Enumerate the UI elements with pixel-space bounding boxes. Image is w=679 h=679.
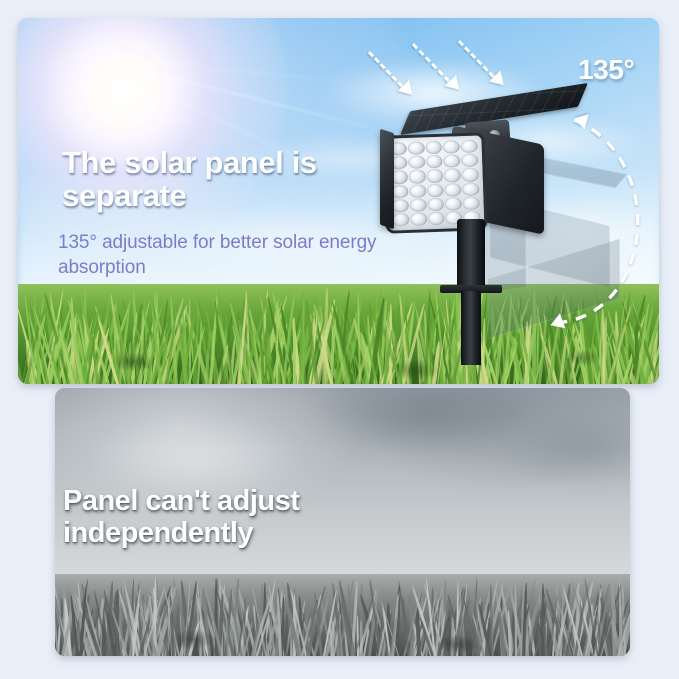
- grass-blade: [480, 609, 491, 656]
- grass-blade: [435, 598, 439, 656]
- grass-blade: [299, 318, 320, 384]
- product-adjustable-solar-light: [378, 73, 659, 373]
- grass-blade: [229, 339, 236, 384]
- grass-blade: [36, 319, 57, 384]
- grass-blade: [122, 620, 131, 656]
- grass-blade: [33, 331, 37, 384]
- grass-blade: [552, 591, 559, 656]
- grass-blade: [491, 603, 494, 656]
- grass-blade: [265, 314, 268, 384]
- grass-blade: [92, 339, 99, 384]
- grass-gray: [55, 574, 630, 656]
- grass-blade: [408, 601, 424, 656]
- grass-blade: [378, 588, 402, 656]
- grass-blade: [328, 621, 332, 656]
- grass-blade: [462, 596, 478, 656]
- grass-blade: [99, 340, 108, 384]
- grass-blade: [367, 343, 378, 384]
- grass-blade: [132, 603, 140, 656]
- grass-blade: [597, 609, 601, 656]
- grass-blade: [259, 335, 276, 384]
- grass-blade: [582, 587, 599, 656]
- grass-blade: [244, 292, 260, 384]
- grass-blade: [143, 588, 166, 656]
- grass-blade: [87, 619, 101, 656]
- grass-blade: [101, 597, 107, 656]
- grass-blade: [123, 331, 136, 384]
- grass-blade: [297, 602, 312, 656]
- grass-blade: [240, 324, 259, 384]
- grass-blade: [298, 317, 312, 384]
- grass-blade: [63, 602, 66, 656]
- grass-blade: [195, 591, 211, 656]
- grass-blade: [354, 310, 369, 384]
- grass-blade: [154, 289, 160, 384]
- grass-blade: [215, 578, 218, 656]
- grass-blade: [357, 599, 377, 656]
- grass-blade: [224, 620, 235, 656]
- grass-blade: [258, 608, 270, 656]
- grass-blade: [258, 603, 267, 656]
- grass-blade: [262, 581, 276, 656]
- grass-blade: [168, 599, 177, 656]
- grass-blade: [571, 612, 581, 656]
- grass-blade: [515, 619, 528, 656]
- grass-blade: [213, 301, 224, 384]
- grass-blade: [397, 580, 411, 656]
- grass-blade: [140, 604, 149, 656]
- grass-blade: [335, 290, 351, 384]
- grass-blade: [536, 621, 549, 656]
- grass-blade: [594, 588, 602, 656]
- grass-blade: [460, 611, 466, 656]
- grass-blade: [74, 595, 96, 656]
- grass-blade: [167, 606, 174, 656]
- grass-blade: [67, 308, 82, 384]
- grass-blade: [166, 604, 169, 656]
- grass-blade: [304, 596, 310, 656]
- grass-blade: [229, 581, 246, 656]
- grass-blade: [546, 617, 554, 656]
- grass-blade: [247, 307, 272, 384]
- grass-blade: [117, 320, 134, 384]
- grass-blade: [327, 337, 344, 384]
- grass-blade: [555, 614, 570, 656]
- grass-blade: [475, 597, 482, 656]
- grass-blade: [128, 582, 141, 656]
- grass-blade: [511, 586, 523, 656]
- grass-blade: [366, 315, 372, 384]
- grass-blade: [271, 612, 287, 656]
- grass-blade: [252, 605, 262, 656]
- grass-blade: [328, 304, 349, 384]
- grass-blade: [598, 584, 622, 656]
- grass-blade: [565, 608, 577, 656]
- grass-blade: [413, 621, 426, 656]
- grass-blade: [489, 584, 494, 656]
- grass-blade: [202, 606, 221, 656]
- grass-blade: [286, 324, 301, 384]
- grass-blade: [115, 329, 126, 384]
- grass-blade: [402, 596, 411, 656]
- grass-blade: [361, 306, 377, 384]
- grass-blade: [546, 608, 560, 656]
- grass-blade: [200, 587, 203, 656]
- grass-blade: [141, 310, 164, 384]
- grass-blade: [139, 310, 145, 384]
- grass-blade: [173, 578, 193, 656]
- grass-blade: [188, 298, 191, 384]
- grass-blade: [221, 613, 230, 656]
- grass-blade: [260, 307, 268, 384]
- grass-blade: [27, 311, 45, 384]
- grass-blade: [39, 341, 51, 384]
- grass-blade: [349, 314, 357, 384]
- grass-blade: [456, 581, 459, 656]
- grass-blade: [315, 600, 321, 656]
- grass-blade: [526, 593, 546, 656]
- grass-blade: [297, 326, 318, 384]
- grass-blade: [291, 294, 319, 384]
- grass-blade: [183, 612, 199, 656]
- grass-blade: [253, 332, 268, 384]
- grass-blade: [448, 595, 466, 656]
- grass-blade: [197, 581, 206, 656]
- grass-blade: [53, 334, 68, 384]
- grass-blade: [368, 579, 382, 656]
- grass-blade: [586, 604, 594, 656]
- grass-blade: [256, 616, 270, 656]
- grass-blade: [522, 596, 541, 656]
- grass-blade: [313, 596, 330, 656]
- grass-blade: [255, 582, 264, 656]
- grass-blade: [280, 305, 296, 384]
- grass-blade: [290, 606, 294, 656]
- grass-blade: [308, 313, 333, 384]
- grass-blade: [411, 585, 436, 656]
- grass-blade: [334, 316, 346, 384]
- grass-blade: [416, 606, 421, 656]
- grass-blade: [429, 620, 441, 656]
- grass-blade: [236, 587, 257, 656]
- grass-blade: [205, 308, 220, 384]
- grass-blade: [627, 604, 630, 656]
- grass-blade: [149, 331, 153, 384]
- grass-blade: [571, 581, 594, 656]
- grass-blade: [156, 578, 162, 656]
- grass-blade: [30, 303, 47, 384]
- grass-blade: [259, 294, 289, 384]
- grass-blade: [338, 579, 354, 656]
- angle-badge-135: 135°: [578, 54, 634, 86]
- grass-blade: [231, 578, 239, 656]
- grass-blade: [303, 586, 327, 656]
- grass-blade: [115, 340, 120, 384]
- grass-blade: [152, 297, 168, 384]
- grass-blade: [71, 596, 90, 656]
- grass-blade: [69, 317, 78, 384]
- grass-blade: [422, 589, 443, 656]
- grass-blade: [57, 308, 68, 384]
- grass-blade: [264, 298, 279, 384]
- grass-blade: [122, 298, 149, 384]
- grass-blade: [437, 613, 451, 656]
- grass-blade: [408, 591, 413, 656]
- grass-blade: [538, 599, 548, 656]
- grass-blade: [333, 614, 342, 656]
- grass-blade: [472, 617, 482, 656]
- grass-blade: [121, 316, 144, 384]
- grass-blade: [163, 330, 176, 384]
- grass-blade: [447, 600, 451, 656]
- grass-blade: [297, 299, 325, 384]
- grass-blade: [70, 297, 76, 384]
- grass-blade: [135, 322, 153, 384]
- grass-blade: [216, 578, 223, 656]
- grass-blade: [259, 332, 271, 384]
- grass-blade: [56, 318, 79, 384]
- grass-blade: [196, 294, 217, 384]
- grass-blade: [41, 307, 44, 384]
- grass-blade: [115, 589, 119, 656]
- grass-blade: [129, 588, 141, 656]
- grass-blade: [74, 591, 95, 656]
- grass-blade: [109, 294, 125, 384]
- grass-blade: [472, 577, 478, 656]
- grass-blade: [355, 315, 378, 384]
- grass-blade: [382, 607, 391, 656]
- grass-blade: [240, 610, 250, 656]
- grass-blade: [138, 596, 152, 656]
- drawback-title: Panel can't adjust independently: [63, 486, 383, 549]
- grass-blade: [333, 608, 344, 656]
- grass-blade: [93, 589, 109, 656]
- grass-blade: [135, 585, 153, 656]
- grass-blade: [182, 310, 187, 384]
- grass-blade: [114, 617, 119, 656]
- grass-blade: [300, 310, 306, 384]
- grass-blade: [153, 589, 165, 656]
- grass-blade: [111, 335, 127, 384]
- grass-blade: [103, 301, 132, 384]
- grass-blade: [475, 599, 489, 656]
- grass-blade: [584, 604, 598, 656]
- grass-blade: [298, 596, 304, 656]
- grass-blade: [150, 296, 162, 384]
- grass-blade: [151, 603, 166, 656]
- grass-blade: [209, 295, 219, 384]
- grass-blade: [334, 327, 342, 384]
- grass-blade: [276, 592, 282, 656]
- grass-blade: [229, 610, 233, 656]
- grass-blade: [147, 296, 163, 384]
- grass-blade: [544, 587, 567, 656]
- grass-blade: [438, 595, 445, 656]
- grass-blade: [230, 594, 244, 656]
- grass-blade: [579, 597, 594, 656]
- grass-blade: [306, 594, 322, 656]
- grass-blade: [152, 594, 157, 656]
- grass-blade: [256, 302, 283, 384]
- grass-blade: [80, 583, 99, 656]
- grass-blade: [180, 614, 187, 656]
- panel-advantage: The solar panel is separate 135° adjusta…: [18, 18, 659, 384]
- grass-blade: [232, 324, 245, 384]
- grass-blade: [36, 339, 40, 384]
- grass-blade: [71, 579, 89, 656]
- grass-blade: [280, 596, 285, 656]
- grass-blade: [453, 586, 467, 656]
- grass-blade: [197, 321, 203, 384]
- grass-blade: [237, 325, 247, 384]
- grass-blade: [561, 583, 580, 656]
- grass-blade: [309, 342, 321, 384]
- grass-blade: [244, 607, 256, 656]
- grass-blade: [617, 610, 630, 656]
- grass-blade: [166, 322, 188, 384]
- grass-blade: [451, 620, 455, 656]
- grass-blade: [499, 622, 504, 656]
- grass-blade: [475, 594, 493, 656]
- grass-blade: [319, 592, 332, 656]
- grass-blade: [27, 339, 34, 384]
- grass-blade: [118, 590, 139, 656]
- grass-blade: [127, 341, 131, 384]
- grass-blade: [217, 594, 224, 656]
- grass-blade: [21, 318, 45, 384]
- grass-blade: [92, 327, 110, 384]
- grass-blade: [249, 328, 262, 384]
- grass-blade: [545, 618, 547, 656]
- grass-blade: [202, 587, 211, 656]
- grass-blade: [269, 342, 277, 384]
- grass-blade: [92, 297, 112, 384]
- grass-blade: [294, 327, 310, 384]
- grass-blade: [548, 594, 558, 656]
- grass-blade: [380, 603, 392, 656]
- grass-blade: [108, 607, 121, 656]
- grass-blade: [232, 332, 246, 384]
- grass-blade: [299, 291, 305, 384]
- grass-blade: [195, 289, 200, 384]
- grass-blade: [185, 618, 199, 656]
- grass-blade: [352, 318, 374, 384]
- grass-blade: [622, 585, 627, 656]
- advantage-title: The solar panel is separate: [62, 146, 402, 212]
- grass-blade: [474, 602, 483, 656]
- grass-blade: [512, 610, 517, 656]
- grass-blade: [423, 584, 445, 656]
- grass-blade: [357, 615, 360, 656]
- grass-blade: [260, 337, 265, 384]
- grass-blade: [86, 615, 97, 656]
- grass-blade: [63, 614, 71, 656]
- grass-blade: [274, 614, 278, 656]
- grass-blade: [109, 591, 118, 656]
- grass-blade: [151, 317, 174, 384]
- grass-blade: [270, 622, 281, 656]
- grass-blade: [333, 325, 347, 384]
- grass-blade: [146, 596, 165, 656]
- grass-blade: [597, 584, 611, 656]
- grass-blade: [63, 612, 67, 656]
- grass-blade: [172, 329, 182, 384]
- grass-blade: [238, 312, 241, 384]
- grass-blade: [308, 602, 317, 656]
- grass-blade: [306, 585, 326, 656]
- grass-blade: [24, 293, 36, 384]
- grass-blade: [607, 612, 622, 656]
- grass-blade: [233, 622, 239, 656]
- grass-blade: [178, 601, 193, 656]
- grass-blade: [83, 325, 91, 384]
- grass-blade: [18, 340, 22, 384]
- grass-blade: [117, 314, 131, 384]
- grass-blade: [277, 302, 286, 384]
- grass-blade: [571, 615, 575, 656]
- grass-blade: [84, 322, 86, 384]
- grass-blade: [229, 302, 251, 384]
- grass-blade: [245, 302, 260, 384]
- grass-blade: [271, 330, 284, 384]
- grass-blade: [286, 582, 299, 656]
- grass-blade: [140, 589, 152, 656]
- grass-blade: [157, 297, 186, 384]
- grass-blade: [169, 595, 175, 656]
- grass-blade: [331, 301, 354, 384]
- grass-blade: [140, 597, 148, 656]
- grass-blade: [29, 304, 49, 384]
- infographic-canvas: The solar panel is separate 135° adjusta…: [0, 0, 679, 679]
- grass-blade: [306, 318, 326, 384]
- grass-blade: [436, 620, 441, 656]
- grass-blade: [105, 581, 114, 656]
- grass-blade: [81, 608, 96, 656]
- grass-blade: [617, 588, 630, 656]
- grass-blade: [403, 591, 424, 656]
- grass-blade: [24, 315, 46, 384]
- grass-blade: [340, 609, 355, 656]
- grass-blade: [270, 322, 289, 384]
- grass-blade: [102, 611, 116, 656]
- grass-blade: [86, 611, 99, 656]
- grass-blade: [147, 579, 169, 656]
- grass-blade: [49, 342, 59, 384]
- grass-blade: [259, 294, 276, 384]
- grass-blade: [293, 588, 308, 656]
- grass-blade: [62, 588, 71, 656]
- grass-blade: [117, 582, 121, 656]
- grass-blade: [47, 342, 62, 384]
- grass-blade: [132, 601, 136, 656]
- grass-blade: [443, 587, 466, 656]
- grass-blade: [94, 305, 121, 384]
- grass-blade: [500, 584, 516, 656]
- grass-blade: [58, 327, 75, 384]
- grass-blade: [325, 597, 342, 656]
- grass-blade: [555, 576, 562, 656]
- grass-blade: [63, 598, 72, 656]
- grass-blade: [268, 621, 280, 656]
- grass-blade: [336, 303, 361, 384]
- grass-blade: [80, 608, 94, 656]
- grass-blade: [169, 296, 177, 384]
- grass-blade: [480, 617, 491, 656]
- grass-blade: [306, 295, 322, 384]
- grass-blade: [488, 617, 492, 656]
- grass-blade: [515, 585, 517, 656]
- grass-blade: [475, 622, 485, 656]
